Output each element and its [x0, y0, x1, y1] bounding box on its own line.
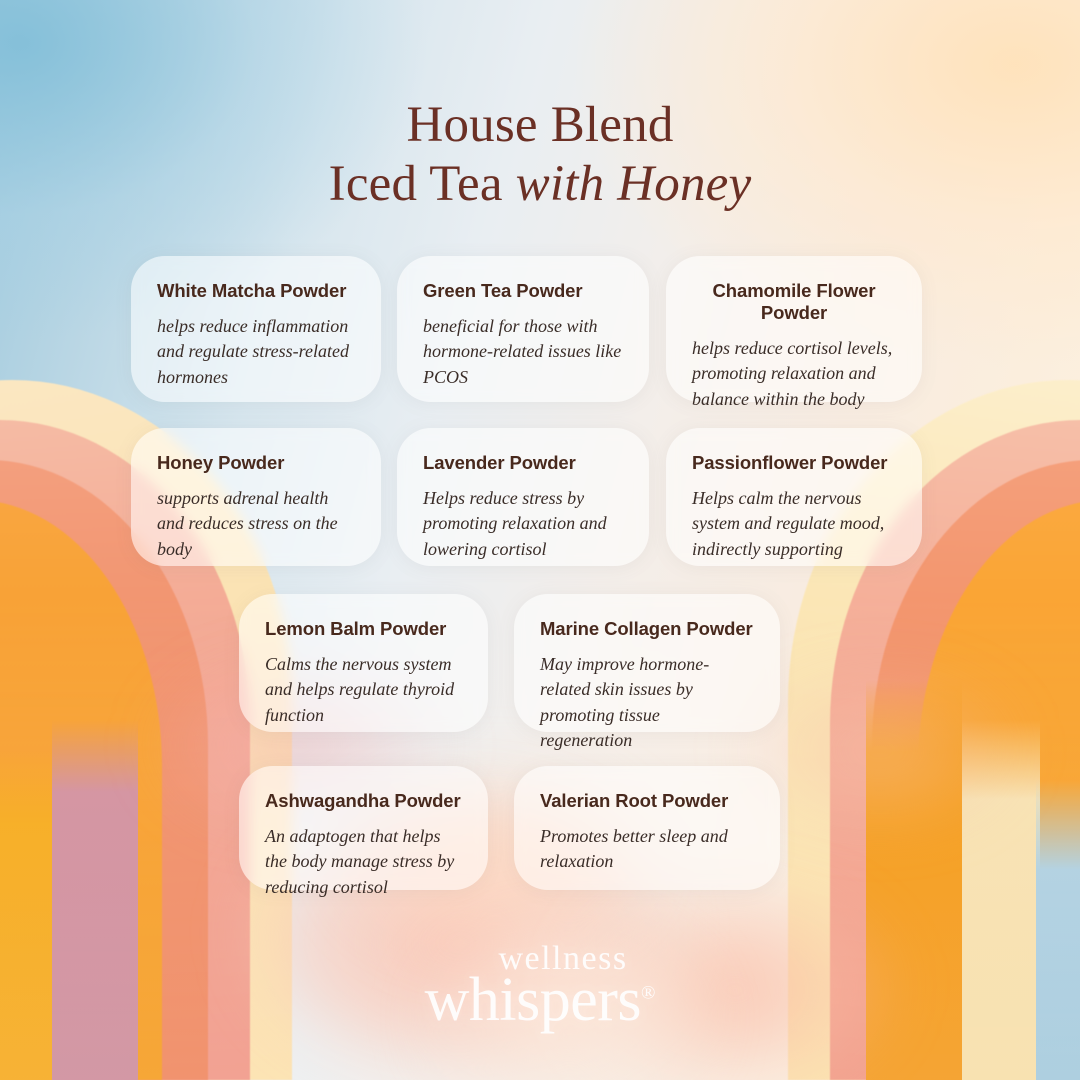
ingredient-card-valerian-root[interactable]: Valerian Root Powder Promotes better sle… — [514, 766, 780, 890]
ingredient-title: Marine Collagen Powder — [540, 618, 754, 640]
ingredient-card-ashwagandha[interactable]: Ashwagandha Powder An adaptogen that hel… — [239, 766, 488, 890]
title-line-two-plain: Iced Tea — [329, 156, 516, 212]
ingredient-title: White Matcha Powder — [157, 280, 355, 302]
ingredient-card-chamomile-flower[interactable]: Chamomile Flower Powder helps reduce cor… — [666, 256, 922, 402]
ingredient-card-lavender[interactable]: Lavender Powder Helps reduce stress by p… — [397, 428, 649, 566]
ingredient-title: Ashwagandha Powder — [265, 790, 462, 812]
title-line-two-emphasis: with Honey — [516, 156, 752, 212]
ingredient-card-honey[interactable]: Honey Powder supports adrenal health and… — [131, 428, 381, 566]
ingredient-card-marine-collagen[interactable]: Marine Collagen Powder May improve hormo… — [514, 594, 780, 732]
ingredient-description: Helps reduce stress by promoting relaxat… — [423, 486, 623, 563]
brand-logo: wellness whispers® — [0, 944, 1080, 1028]
title-line-two: Iced Tea with Honey — [0, 155, 1080, 214]
ingredient-card-white-matcha[interactable]: White Matcha Powder helps reduce inflamm… — [131, 256, 381, 402]
ingredient-description: May improve hormone-related skin issues … — [540, 652, 754, 754]
ingredient-title: Lavender Powder — [423, 452, 623, 474]
ingredient-description: beneficial for those with hormone-relate… — [423, 314, 623, 391]
ingredient-card-passionflower[interactable]: Passionflower Powder Helps calm the nerv… — [666, 428, 922, 566]
ingredient-title: Honey Powder — [157, 452, 355, 474]
ingredient-title: Valerian Root Powder — [540, 790, 754, 812]
ingredient-title: Green Tea Powder — [423, 280, 623, 302]
poster-canvas: House Blend Iced Tea with Honey White Ma… — [0, 0, 1080, 1080]
poster-content: House Blend Iced Tea with Honey White Ma… — [0, 0, 1080, 1080]
brand-logo-whispers: whispers® — [0, 973, 1080, 1028]
ingredient-description: Helps calm the nervous system and regula… — [692, 486, 896, 563]
title-line-one: House Blend — [0, 96, 1080, 155]
brand-logo-whispers-text: whispers — [425, 966, 641, 1034]
registered-trademark-icon: ® — [641, 983, 655, 1004]
ingredient-card-green-tea[interactable]: Green Tea Powder beneficial for those wi… — [397, 256, 649, 402]
ingredient-description: Calms the nervous system and helps regul… — [265, 652, 462, 729]
ingredient-title: Chamomile Flower Powder — [692, 280, 896, 324]
ingredient-description: helps reduce cortisol levels, promoting … — [692, 336, 896, 413]
ingredient-title: Passionflower Powder — [692, 452, 896, 474]
ingredient-description: An adaptogen that helps the body manage … — [265, 824, 462, 901]
ingredient-description: helps reduce inflammation and regulate s… — [157, 314, 355, 391]
page-title: House Blend Iced Tea with Honey — [0, 96, 1080, 214]
ingredient-card-lemon-balm[interactable]: Lemon Balm Powder Calms the nervous syst… — [239, 594, 488, 732]
ingredient-description: supports adrenal health and reduces stre… — [157, 486, 355, 563]
ingredient-description: Promotes better sleep and relaxation — [540, 824, 754, 875]
ingredient-title: Lemon Balm Powder — [265, 618, 462, 640]
